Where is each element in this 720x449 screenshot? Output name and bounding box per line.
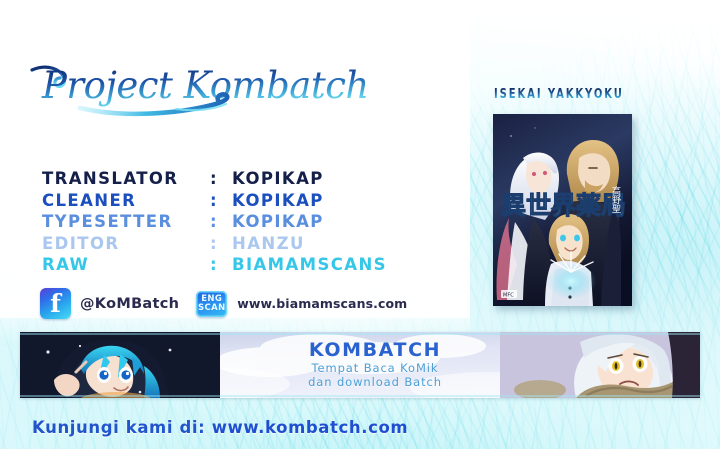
eng-scan-badge: ENG SCAN: [196, 291, 227, 317]
credit-separator: :: [210, 254, 232, 276]
credit-separator: :: [210, 190, 232, 212]
credit-row-cleaner: CLEANER : KOPIKAP: [42, 190, 387, 212]
page-title: ISEKAI YAKKYOKU: [494, 86, 624, 102]
facebook-glyph: f: [40, 291, 71, 316]
credits-list: TRANSLATOR : KOPIKAP CLEANER : KOPIKAP T…: [42, 168, 387, 276]
cover-publisher-mark: MFC: [503, 293, 514, 299]
credit-row-translator: TRANSLATOR : KOPIKAP: [42, 168, 387, 190]
cover-japanese-title: 異世界薬局: [501, 191, 626, 220]
banner-subtitle-line2: dan download Batch: [308, 376, 442, 390]
credit-row-editor: EDITOR : HANZU: [42, 233, 387, 255]
credit-name-value: KOPIKAP: [232, 168, 324, 190]
kombatch-promo-banner[interactable]: KOMBATCH Tempat Baca KoMik dan download …: [20, 332, 700, 398]
credit-role-label: TYPESETTER: [42, 211, 210, 233]
credit-name-value: KOPIKAP: [232, 211, 324, 233]
eng-scan-badge-line2: SCAN: [198, 304, 226, 313]
raw-source-url[interactable]: www.biamamscans.com: [237, 296, 407, 311]
cover-author-text: 高野聖: [610, 185, 621, 213]
credit-role-label: EDITOR: [42, 233, 210, 255]
svg-text:Project Kombatch: Project Kombatch: [41, 64, 369, 107]
scanlation-credits-page: Project Kombatch ISEKAI YAKKYOKU TRANSLA…: [0, 0, 720, 449]
facebook-handle[interactable]: @KoMBatch: [80, 296, 179, 312]
credit-role-label: TRANSLATOR: [42, 168, 210, 190]
banner-text-block: KOMBATCH Tempat Baca KoMik dan download …: [260, 332, 490, 398]
social-row: f @KoMBatch ENG SCAN www.biamamscans.com: [40, 288, 407, 319]
manga-cover-image[interactable]: 異世界薬局 高野聖 MFC: [493, 114, 632, 306]
banner-right-art: [500, 332, 700, 398]
banner-subtitle-line1: Tempat Baca KoMik: [308, 362, 442, 376]
footer-visit-us: Kunjungi kami di: www.kombatch.com: [32, 418, 408, 437]
credit-separator: :: [210, 211, 232, 233]
credit-row-typesetter: TYPESETTER : KOPIKAP: [42, 211, 387, 233]
facebook-icon[interactable]: f: [40, 288, 71, 319]
credit-separator: :: [210, 233, 232, 255]
banner-subtitle: Tempat Baca KoMik dan download Batch: [308, 362, 442, 389]
credit-name-value: KOPIKAP: [232, 190, 324, 212]
credit-separator: :: [210, 168, 232, 190]
credit-role-label: RAW: [42, 254, 210, 276]
banner-left-art: [20, 332, 240, 398]
project-kombatch-logo: Project Kombatch: [26, 62, 356, 114]
footer-prefix: Kunjungi kami di:: [32, 418, 205, 437]
credit-name-value: HANZU: [232, 233, 305, 255]
footer-url[interactable]: www.kombatch.com: [212, 418, 409, 437]
banner-title: KOMBATCH: [309, 341, 441, 361]
credit-role-label: CLEANER: [42, 190, 210, 212]
credit-name-value: BIAMAMSCANS: [232, 254, 387, 276]
credit-row-raw: RAW : BIAMAMSCANS: [42, 254, 387, 276]
